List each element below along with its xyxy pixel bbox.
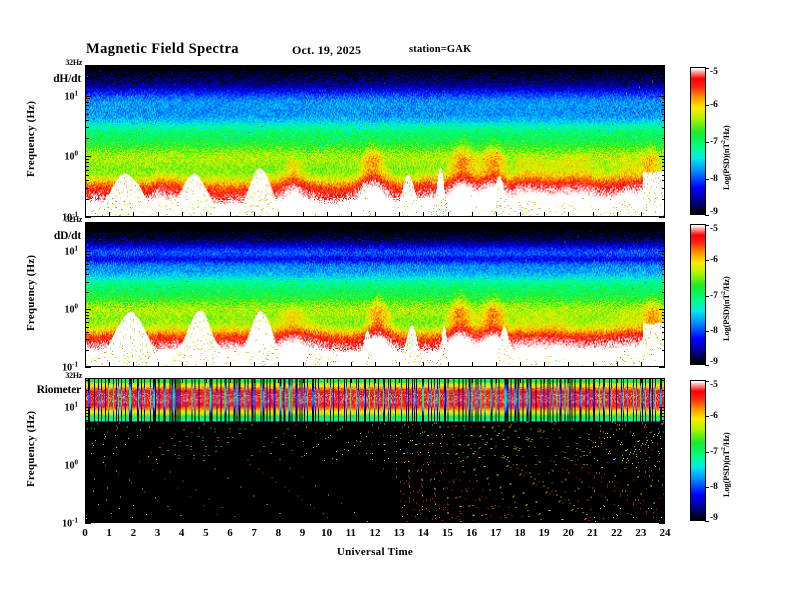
- x-tick-mark: [520, 378, 521, 383]
- y-minor-tick: [662, 478, 666, 479]
- y-minor-tick: [662, 332, 666, 333]
- y-tick-mark: [85, 523, 91, 524]
- x-tick-mark: [399, 65, 400, 70]
- colorbar: -5-6-7-8-9Log(PSD)(nT2/Hz): [690, 380, 706, 521]
- x-tick-label: 15: [442, 527, 453, 539]
- y-tick-mark: [85, 156, 91, 157]
- x-tick-label: 20: [563, 527, 574, 539]
- x-tick-mark: [423, 378, 424, 383]
- x-tick-mark: [593, 378, 594, 383]
- y-minor-tick: [85, 260, 89, 261]
- y-minor-tick: [85, 199, 89, 200]
- x-tick-label: 19: [539, 527, 550, 539]
- x-tick-mark: [303, 65, 304, 70]
- colorbar-tick-mark: [705, 331, 709, 332]
- x-tick-mark: [472, 222, 473, 227]
- y-minor-tick: [85, 495, 89, 496]
- y-minor-tick: [85, 327, 89, 328]
- y-minor-tick: [662, 257, 666, 258]
- y-tick-mark: [659, 156, 665, 157]
- x-tick-label: 22: [611, 527, 622, 539]
- x-tick-mark: [182, 378, 183, 383]
- colorbar-tick-mark: [705, 179, 709, 180]
- y-minor-tick: [85, 483, 89, 484]
- x-tick-mark: [158, 65, 159, 70]
- y-tick-label: 100: [65, 302, 79, 315]
- y-minor-tick: [662, 98, 666, 99]
- y-minor-tick: [85, 332, 89, 333]
- y-minor-tick: [662, 339, 666, 340]
- x-tick-mark: [617, 65, 618, 70]
- x-tick-mark: [496, 222, 497, 227]
- page-title: Magnetic Field Spectra: [86, 41, 239, 58]
- x-tick-mark: [568, 378, 569, 383]
- colorbar-tick-label: -6: [710, 255, 718, 265]
- x-tick-mark: [448, 378, 449, 383]
- x-tick-mark: [254, 362, 255, 367]
- colorbar: -5-6-7-8-9Log(PSD)(nT2/Hz): [690, 67, 706, 215]
- date-label: Oct. 19, 2025: [292, 43, 361, 58]
- y-minor-tick: [85, 282, 89, 283]
- x-tick-mark: [375, 362, 376, 367]
- x-tick-mark: [182, 362, 183, 367]
- x-tick-label: 23: [635, 527, 646, 539]
- x-tick-mark: [664, 378, 665, 383]
- colorbar-tick-mark: [705, 215, 709, 216]
- station-label: station=GAK: [409, 44, 471, 55]
- y-tick-label: 101: [65, 401, 79, 414]
- x-tick-mark: [375, 222, 376, 227]
- x-tick-label: 17: [490, 527, 501, 539]
- y-minor-tick: [662, 180, 666, 181]
- x-tick-mark: [496, 518, 497, 523]
- y-minor-tick: [662, 282, 666, 283]
- y-minor-tick: [662, 488, 666, 489]
- x-tick-mark: [206, 212, 207, 217]
- colorbar-tick-label: -5: [710, 224, 718, 234]
- x-tick-mark: [182, 222, 183, 227]
- x-tick-label: 18: [515, 527, 526, 539]
- x-tick-mark: [254, 378, 255, 383]
- y-minor-tick: [85, 315, 89, 316]
- x-tick-mark: [133, 518, 134, 523]
- x-tick-label: 16: [466, 527, 477, 539]
- x-tick-mark: [448, 518, 449, 523]
- y-tick-mark: [659, 309, 665, 310]
- x-tick-label: 0: [82, 527, 88, 539]
- x-tick-mark: [593, 222, 594, 227]
- y-tick-label: 10-1: [62, 516, 78, 529]
- y-minor-tick: [662, 77, 666, 78]
- x-tick-label: 4: [179, 527, 185, 539]
- y-minor-tick: [85, 77, 89, 78]
- nyquist-label: 32Hz: [65, 58, 82, 67]
- x-tick-mark: [351, 362, 352, 367]
- x-tick-mark: [617, 362, 618, 367]
- y-minor-tick: [85, 430, 89, 431]
- y-minor-tick: [85, 448, 89, 449]
- x-tick-mark: [133, 222, 134, 227]
- y-minor-tick: [85, 98, 89, 99]
- x-tick-mark: [617, 222, 618, 227]
- y-tick-mark: [85, 367, 91, 368]
- y-minor-tick: [85, 488, 89, 489]
- x-tick-mark: [399, 518, 400, 523]
- x-tick-mark: [664, 212, 665, 217]
- x-tick-label: 5: [203, 527, 209, 539]
- y-minor-tick: [85, 413, 89, 414]
- y-minor-tick: [85, 478, 89, 479]
- x-tick-label: 1: [106, 527, 112, 539]
- y-minor-tick: [662, 350, 666, 351]
- x-tick-mark: [278, 518, 279, 523]
- x-tick-mark: [423, 518, 424, 523]
- x-tick-mark: [254, 518, 255, 523]
- x-tick-mark: [278, 362, 279, 367]
- y-tick-mark: [659, 251, 665, 252]
- y-minor-tick: [662, 264, 666, 265]
- x-tick-mark: [617, 212, 618, 217]
- colorbar-tick-mark: [705, 68, 709, 69]
- nyquist-label: 32Hz: [65, 215, 82, 224]
- x-tick-mark: [593, 212, 594, 217]
- x-tick-mark: [544, 65, 545, 70]
- x-tick-mark: [327, 65, 328, 70]
- colorbar-tick-mark: [705, 521, 709, 522]
- x-tick-mark: [206, 222, 207, 227]
- x-tick-mark: [158, 222, 159, 227]
- x-tick-mark: [206, 378, 207, 383]
- x-tick-mark: [520, 362, 521, 367]
- y-tick-mark: [659, 367, 665, 368]
- y-minor-tick: [85, 322, 89, 323]
- panel-label-dhdt: dH/dt: [53, 73, 81, 85]
- x-tick-mark: [399, 222, 400, 227]
- x-tick-mark: [109, 212, 110, 217]
- spectrogram-image: [86, 223, 664, 366]
- x-tick-mark: [158, 212, 159, 217]
- spectrogram-figure: Magnetic Field Spectra Oct. 19, 2025 sta…: [0, 0, 792, 612]
- y-minor-tick: [85, 438, 89, 439]
- x-tick-mark: [423, 65, 424, 70]
- y-minor-tick: [662, 327, 666, 328]
- x-tick-label: 10: [321, 527, 332, 539]
- y-axis-title: Frequency (Hz): [25, 254, 37, 330]
- colorbar-tick-label: -5: [710, 380, 718, 390]
- colorbar-tick-label: -8: [710, 482, 718, 492]
- y-minor-tick: [662, 138, 666, 139]
- y-axis-title: Frequency (Hz): [25, 410, 37, 486]
- y-minor-tick: [662, 234, 666, 235]
- x-tick-mark: [544, 212, 545, 217]
- x-tick-mark: [206, 362, 207, 367]
- x-tick-mark: [109, 65, 110, 70]
- x-tick-mark: [278, 222, 279, 227]
- x-tick-mark: [109, 222, 110, 227]
- x-tick-mark: [85, 362, 86, 367]
- x-tick-mark: [230, 212, 231, 217]
- y-minor-tick: [662, 114, 666, 115]
- y-minor-tick: [662, 318, 666, 319]
- x-tick-mark: [617, 518, 618, 523]
- x-tick-mark: [641, 378, 642, 383]
- x-tick-mark: [423, 212, 424, 217]
- x-tick-mark: [496, 65, 497, 70]
- y-minor-tick: [85, 254, 89, 255]
- y-minor-tick: [85, 350, 89, 351]
- y-minor-tick: [662, 322, 666, 323]
- colorbar: -5-6-7-8-9Log(PSD)(nT2/Hz): [690, 224, 706, 365]
- y-tick-mark: [85, 465, 91, 466]
- y-minor-tick: [85, 105, 89, 106]
- x-tick-mark: [375, 65, 376, 70]
- x-tick-mark: [109, 378, 110, 383]
- y-minor-tick: [85, 264, 89, 265]
- y-tick-label: 100: [65, 458, 79, 471]
- x-tick-mark: [423, 362, 424, 367]
- y-minor-tick: [662, 188, 666, 189]
- y-minor-tick: [85, 102, 89, 103]
- x-tick-mark: [158, 378, 159, 383]
- y-minor-tick: [85, 474, 89, 475]
- y-minor-tick: [85, 120, 89, 121]
- x-tick-mark: [327, 378, 328, 383]
- y-minor-tick: [85, 138, 89, 139]
- y-minor-tick: [662, 474, 666, 475]
- y-minor-tick: [662, 410, 666, 411]
- x-tick-mark: [230, 518, 231, 523]
- x-tick-mark: [351, 65, 352, 70]
- x-tick-mark: [351, 212, 352, 217]
- x-tick-mark: [375, 212, 376, 217]
- x-tick-mark: [641, 518, 642, 523]
- y-minor-tick: [85, 170, 89, 171]
- x-tick-mark: [182, 65, 183, 70]
- colorbar-tick-label: -7: [710, 137, 718, 147]
- y-minor-tick: [85, 159, 89, 160]
- x-tick-mark: [520, 212, 521, 217]
- y-minor-tick: [85, 339, 89, 340]
- y-minor-tick: [662, 495, 666, 496]
- y-tick-mark: [85, 217, 91, 218]
- x-tick-label: 6: [227, 527, 233, 539]
- x-tick-mark: [303, 518, 304, 523]
- y-minor-tick: [662, 425, 666, 426]
- panel-riometer: 32HzRiometerFrequency (Hz)10110010-10123…: [85, 378, 665, 523]
- y-tick-mark: [659, 217, 665, 218]
- y-minor-tick: [85, 292, 89, 293]
- y-tick-label: 101: [65, 245, 79, 258]
- x-tick-mark: [641, 222, 642, 227]
- spectrogram-image: [86, 379, 664, 522]
- x-tick-mark: [182, 518, 183, 523]
- y-minor-tick: [662, 430, 666, 431]
- x-tick-mark: [351, 518, 352, 523]
- x-tick-mark: [448, 212, 449, 217]
- y-minor-tick: [662, 274, 666, 275]
- x-tick-mark: [254, 65, 255, 70]
- x-tick-label: 9: [300, 527, 306, 539]
- plot-frame: [85, 378, 665, 523]
- y-tick-mark: [659, 523, 665, 524]
- x-tick-mark: [133, 212, 134, 217]
- x-tick-mark: [85, 65, 86, 70]
- y-minor-tick: [85, 468, 89, 469]
- panel-label-dddt: dD/dt: [54, 230, 81, 242]
- x-axis-title: Universal Time: [85, 546, 665, 558]
- x-tick-label: 3: [155, 527, 161, 539]
- x-tick-label: 21: [587, 527, 598, 539]
- colorbar-tick-label: -7: [710, 447, 718, 457]
- colorbar-title: Log(PSD)(nT2/Hz): [721, 276, 731, 341]
- x-tick-mark: [133, 65, 134, 70]
- y-minor-tick: [85, 162, 89, 163]
- y-minor-tick: [662, 269, 666, 270]
- x-tick-mark: [496, 362, 497, 367]
- x-tick-mark: [85, 518, 86, 523]
- x-tick-mark: [472, 362, 473, 367]
- y-minor-tick: [85, 312, 89, 313]
- colorbar-tick-label: -8: [710, 326, 718, 336]
- y-minor-tick: [662, 109, 666, 110]
- x-tick-mark: [544, 362, 545, 367]
- x-tick-mark: [109, 362, 110, 367]
- x-tick-mark: [351, 222, 352, 227]
- colorbar-tick-label: -9: [710, 357, 718, 367]
- y-minor-tick: [85, 257, 89, 258]
- x-tick-mark: [664, 518, 665, 523]
- y-minor-tick: [662, 438, 666, 439]
- x-tick-mark: [664, 65, 665, 70]
- y-minor-tick: [662, 120, 666, 121]
- x-tick-mark: [85, 222, 86, 227]
- y-minor-tick: [662, 468, 666, 469]
- y-minor-tick: [85, 416, 89, 417]
- x-tick-mark: [375, 378, 376, 383]
- y-minor-tick: [85, 180, 89, 181]
- x-tick-mark: [254, 222, 255, 227]
- y-minor-tick: [85, 109, 89, 110]
- colorbar-tick-label: -7: [710, 291, 718, 301]
- x-tick-mark: [448, 222, 449, 227]
- plot-frame: [85, 65, 665, 217]
- colorbar-tick-mark: [705, 416, 709, 417]
- y-minor-tick: [85, 269, 89, 270]
- x-tick-mark: [664, 222, 665, 227]
- y-minor-tick: [85, 420, 89, 421]
- x-tick-mark: [568, 222, 569, 227]
- x-tick-mark: [496, 212, 497, 217]
- y-minor-tick: [662, 254, 666, 255]
- y-minor-tick: [662, 506, 666, 507]
- x-tick-label: 8: [276, 527, 282, 539]
- x-tick-mark: [278, 65, 279, 70]
- x-tick-mark: [230, 362, 231, 367]
- y-minor-tick: [662, 292, 666, 293]
- colorbar-tick-mark: [705, 365, 709, 366]
- y-minor-tick: [85, 471, 89, 472]
- x-tick-mark: [641, 212, 642, 217]
- x-tick-mark: [109, 518, 110, 523]
- x-tick-mark: [399, 378, 400, 383]
- x-tick-mark: [448, 65, 449, 70]
- y-tick-mark: [659, 96, 665, 97]
- colorbar-tick-mark: [705, 260, 709, 261]
- x-tick-mark: [303, 378, 304, 383]
- x-tick-mark: [85, 212, 86, 217]
- y-minor-tick: [662, 166, 666, 167]
- y-tick-mark: [85, 309, 91, 310]
- colorbar-tick-label: -9: [710, 513, 718, 523]
- colorbar-tick-mark: [705, 142, 709, 143]
- x-tick-mark: [617, 378, 618, 383]
- x-tick-mark: [278, 378, 279, 383]
- x-tick-mark: [568, 518, 569, 523]
- y-minor-tick: [662, 312, 666, 313]
- x-tick-mark: [520, 65, 521, 70]
- y-minor-tick: [662, 175, 666, 176]
- x-tick-mark: [327, 518, 328, 523]
- y-tick-mark: [85, 407, 91, 408]
- x-tick-mark: [641, 65, 642, 70]
- x-tick-mark: [206, 518, 207, 523]
- x-tick-mark: [327, 222, 328, 227]
- x-tick-mark: [375, 518, 376, 523]
- x-tick-mark: [423, 222, 424, 227]
- x-tick-label: 11: [346, 527, 356, 539]
- x-tick-mark: [399, 212, 400, 217]
- y-minor-tick: [662, 471, 666, 472]
- x-tick-mark: [133, 362, 134, 367]
- y-minor-tick: [85, 127, 89, 128]
- x-tick-label: 14: [418, 527, 429, 539]
- y-minor-tick: [85, 234, 89, 235]
- y-minor-tick: [662, 102, 666, 103]
- x-tick-label: 13: [394, 527, 405, 539]
- colorbar-tick-label: -6: [710, 411, 718, 421]
- colorbar-tick-mark: [705, 105, 709, 106]
- y-minor-tick: [85, 188, 89, 189]
- y-minor-tick: [85, 166, 89, 167]
- colorbar-tick-label: -8: [710, 174, 718, 184]
- x-tick-mark: [472, 378, 473, 383]
- x-tick-mark: [472, 212, 473, 217]
- x-tick-mark: [85, 378, 86, 383]
- y-minor-tick: [662, 162, 666, 163]
- colorbar-title: Log(PSD)(nT2/Hz): [721, 125, 731, 190]
- x-tick-mark: [520, 222, 521, 227]
- x-tick-mark: [158, 518, 159, 523]
- x-tick-mark: [206, 65, 207, 70]
- x-tick-mark: [158, 362, 159, 367]
- x-tick-mark: [327, 212, 328, 217]
- colorbar-tick-label: -6: [710, 100, 718, 110]
- y-minor-tick: [662, 315, 666, 316]
- panel-label-riometer: Riometer: [37, 384, 81, 396]
- x-tick-label: 12: [370, 527, 381, 539]
- y-tick-label: 101: [65, 89, 79, 102]
- y-minor-tick: [662, 159, 666, 160]
- x-tick-mark: [399, 362, 400, 367]
- y-minor-tick: [85, 425, 89, 426]
- y-minor-tick: [85, 410, 89, 411]
- x-tick-mark: [544, 378, 545, 383]
- x-tick-mark: [593, 65, 594, 70]
- x-tick-mark: [278, 212, 279, 217]
- y-minor-tick: [662, 105, 666, 106]
- x-tick-mark: [230, 378, 231, 383]
- x-tick-mark: [568, 362, 569, 367]
